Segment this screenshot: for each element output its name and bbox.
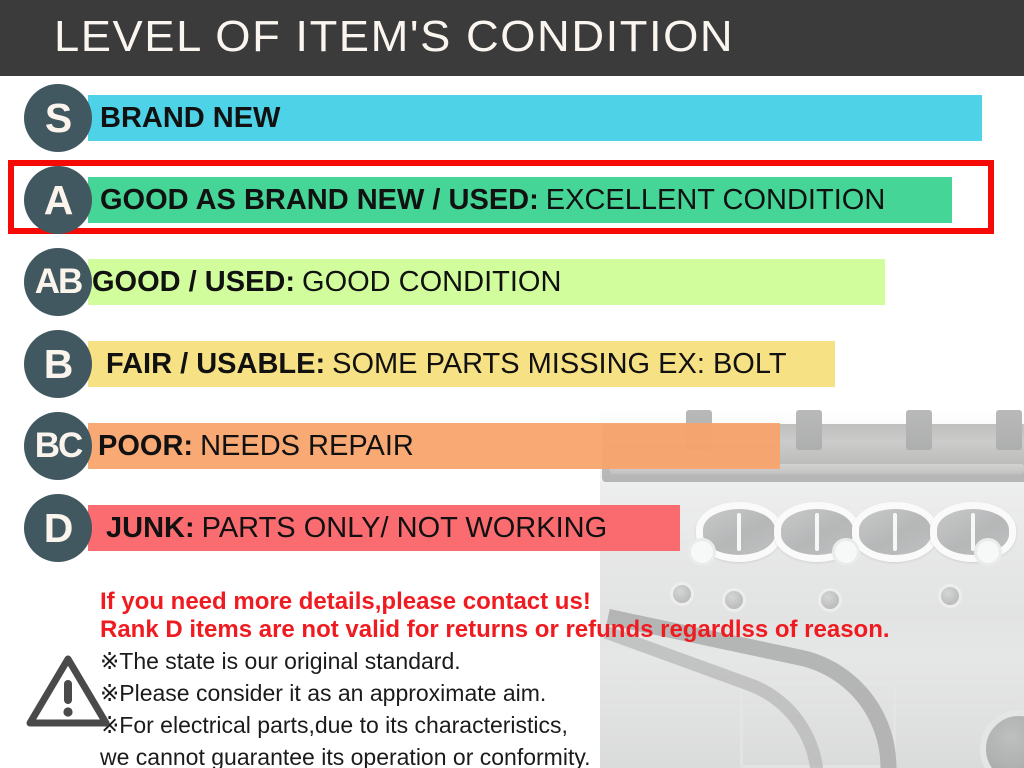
grade-lead-b: FAIR / USABLE: [106,348,325,381]
grade-row-b[interactable]: B FAIR / USABLE: SOME PARTS MISSING EX: … [0,322,1024,404]
page-title: LEVEL OF ITEM'S CONDITION [54,12,734,62]
note-no-guarantee: we cannot guarantee its operation or con… [100,744,591,768]
grade-badge-label: B [44,341,73,388]
grade-rest-ab: GOOD CONDITION [302,266,561,299]
grade-rest-b: SOME PARTS MISSING EX: BOLT [332,348,786,381]
grade-badge-d: D [24,494,92,562]
grade-lead-d: JUNK: [106,512,195,545]
grade-text-s: BRAND NEW [100,95,287,141]
notes-section: If you need more details,please contact … [0,588,1024,768]
grade-row-s[interactable]: S BRAND NEW [0,76,1024,158]
condition-level-infographic: LEVEL OF ITEM'S CONDITION S BRAND NEW A … [0,0,1024,768]
grade-badge-bc: BC [24,412,92,480]
grade-lead-a: GOOD AS BRAND NEW / USED: [100,184,539,217]
grade-badge-label: BC [35,426,82,466]
grade-badge-a: A [24,166,92,234]
note-original-standard: ※The state is our original standard. [100,648,461,675]
header-bar: LEVEL OF ITEM'S CONDITION [0,0,1024,76]
grade-badge-label: S [45,95,71,142]
grade-row-d[interactable]: D JUNK: PARTS ONLY/ NOT WORKING [0,486,1024,568]
grade-text-b: FAIR / USABLE: SOME PARTS MISSING EX: BO… [106,341,787,387]
grade-text-a: GOOD AS BRAND NEW / USED: EXCELLENT COND… [100,177,885,223]
grade-text-d: JUNK: PARTS ONLY/ NOT WORKING [106,505,607,551]
grade-badge-label: AB [35,262,82,302]
note-rank-d-policy: Rank D items are not valid for returns o… [100,616,890,644]
grade-badge-s: S [24,84,92,152]
grade-row-a[interactable]: A GOOD AS BRAND NEW / USED: EXCELLENT CO… [0,158,1024,240]
grade-badge-ab: AB [24,248,92,316]
grade-row-ab[interactable]: AB GOOD / USED: GOOD CONDITION [0,240,1024,322]
grade-text-ab: GOOD / USED: GOOD CONDITION [92,259,561,305]
grade-rest-d: PARTS ONLY/ NOT WORKING [202,512,608,545]
note-electrical-parts: ※For electrical parts,due to its charact… [100,712,568,739]
grade-text-bc: POOR: NEEDS REPAIR [98,423,414,469]
grade-lead-bc: POOR: [98,430,193,463]
grade-badge-label: A [44,177,73,224]
grade-rest-a: EXCELLENT CONDITION [546,184,885,217]
grade-list: S BRAND NEW A GOOD AS BRAND NEW / USED: … [0,76,1024,568]
grade-badge-label: D [44,505,73,552]
grade-row-bc[interactable]: BC POOR: NEEDS REPAIR [0,404,1024,486]
warning-triangle-icon [26,654,110,728]
grade-badge-b: B [24,330,92,398]
grade-lead-s: BRAND NEW [100,102,280,135]
note-contact-us: If you need more details,please contact … [100,588,591,616]
grade-rest-bc: NEEDS REPAIR [200,430,414,463]
note-approximate-aim: ※Please consider it as an approximate ai… [100,680,546,707]
grade-lead-ab: GOOD / USED: [92,266,295,299]
